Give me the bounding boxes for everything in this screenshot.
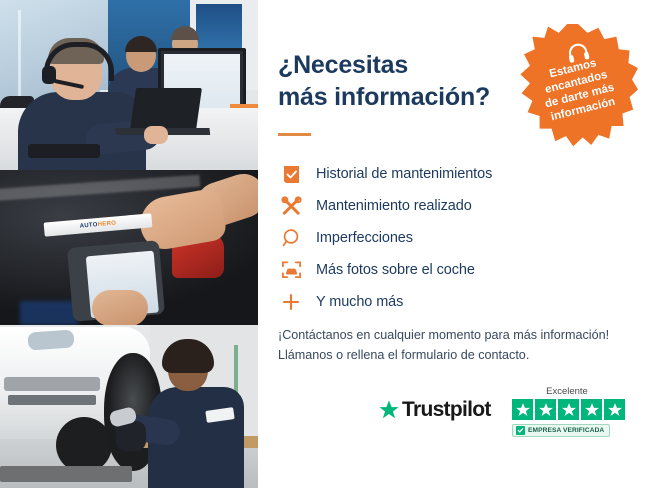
car-photo-frame-icon (276, 260, 306, 280)
feature-label: Y mucho más (316, 294, 403, 310)
trustpilot-score: Excelente (512, 386, 650, 439)
car-grille-lower (8, 395, 96, 405)
laptop (130, 88, 202, 130)
car-grille-upper (4, 377, 100, 391)
trustpilot-wordmark: Trustpilot (402, 398, 491, 422)
trustpilot-rating-label: Excelente (512, 386, 622, 397)
feature-item-more-photos: Más fotos sobre el coche (276, 254, 626, 286)
photo-vehicle-inspection: AUTOHERO (0, 170, 258, 325)
wall-poster (196, 4, 242, 48)
star-filled (535, 399, 556, 420)
photo-call-centre (0, 0, 258, 170)
information-promo-card: AUTOHERO ¿Nece (0, 0, 650, 488)
desk-tablet (28, 144, 100, 158)
agent-hand (144, 126, 168, 144)
star-filled (558, 399, 579, 420)
vehicle-lift-arm (0, 466, 132, 482)
feature-label: Imperfecciones (316, 230, 413, 246)
feature-label: Mantenimiento realizado (316, 198, 472, 214)
headline-line-1: ¿Necesitas (278, 51, 408, 79)
verified-company-label: EMPRESA VERIFICADA (528, 427, 604, 434)
photo-column: AUTOHERO (0, 0, 258, 488)
headline-line-2: más información? (278, 82, 518, 114)
check-icon (516, 426, 525, 435)
contact-line-2: Llámanos o rellena el formulario de cont… (278, 345, 634, 365)
plus-icon (276, 292, 306, 312)
promo-starburst-badge: Estamos encantados de darte más informac… (518, 24, 638, 150)
car-headlight (27, 329, 74, 350)
magnifier-icon (276, 228, 306, 248)
feature-item-imperfections: Imperfecciones (276, 222, 626, 254)
background-reflection (20, 301, 78, 325)
photo-wheel-inspection (0, 325, 258, 488)
contact-text: ¡Contáctanos en cualquier momento para m… (278, 325, 634, 366)
tools-cross-icon (276, 196, 306, 217)
clipboard-check-icon (276, 164, 306, 185)
page-title: ¿Necesitas más información? (278, 50, 518, 113)
trustpilot-logo[interactable]: Trustpilot (378, 398, 491, 422)
star-filled (604, 399, 625, 420)
verified-company-badge: EMPRESA VERIFICADA (512, 424, 610, 437)
trustpilot-star-rating (512, 399, 626, 420)
trustpilot-star-icon (378, 399, 400, 421)
feature-list: Historial de mantenimientos Mantenimient… (276, 158, 626, 318)
feature-label: Más fotos sobre el coche (316, 262, 475, 278)
feature-label: Historial de mantenimientos (316, 166, 492, 182)
contact-line-1: ¡Contáctanos en cualquier momento para m… (278, 325, 634, 345)
star-filled (512, 399, 533, 420)
ruler-brand-auto: AUTO (79, 222, 98, 230)
ruler-brand-hero: HERO (98, 220, 117, 228)
feature-item-maintenance-history: Historial de mantenimientos (276, 158, 626, 190)
feature-item-much-more: Y mucho más (276, 286, 626, 318)
star-filled (581, 399, 602, 420)
trustpilot-rating-block: Trustpilot Excelente (378, 386, 650, 448)
content-panel: ¿Necesitas más información? Estamos enca… (258, 0, 650, 488)
inspector-second-hand (92, 290, 148, 325)
ruler-brand-text: AUTOHERO (79, 220, 116, 229)
feature-item-maintenance-done: Mantenimiento realizado (276, 190, 626, 222)
title-underline-divider (278, 133, 311, 136)
